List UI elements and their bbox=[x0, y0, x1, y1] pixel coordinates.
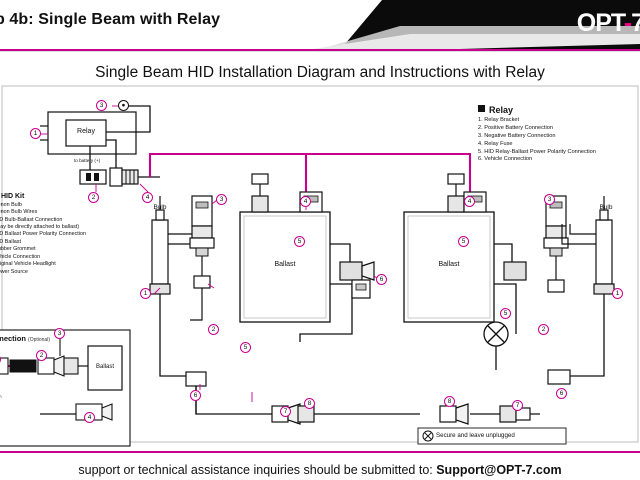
unplugged-marker bbox=[484, 322, 508, 346]
capacitor-legend: llast Power Polarity Connection citor as… bbox=[0, 394, 1, 424]
callout-left-2: 2 bbox=[208, 324, 219, 335]
callout-left-3: 3 bbox=[216, 194, 227, 205]
callout-right-2: 2 bbox=[538, 324, 549, 335]
relay-legend-title: Relay bbox=[478, 104, 596, 117]
capacitor-panel-title: Capacitor Connection (Optional) bbox=[0, 334, 50, 343]
callout-right-1: 1 bbox=[612, 288, 623, 299]
capacitor-ballast-label: Ballast bbox=[88, 364, 122, 370]
footer-contact: support or technical assistance inquirie… bbox=[0, 463, 640, 477]
callout-right-6: 6 bbox=[556, 388, 567, 399]
kit-item-6: Rubber Grommet bbox=[0, 246, 86, 253]
kit-item-3-note: (May be directly attached to ballast) bbox=[0, 224, 86, 231]
square-bullet-icon bbox=[478, 105, 485, 112]
callout-right-7: 7 bbox=[512, 400, 523, 411]
callout-relay-3: 3 bbox=[96, 100, 107, 111]
page-header: ep 4b: Single Beam with Relay OPT-7 bbox=[0, 0, 640, 50]
unplugged-note: Secure and leave unplugged bbox=[436, 432, 515, 439]
relay-connector-cluster bbox=[80, 168, 160, 186]
relay-item-2: 2. Positive Battery Connection bbox=[478, 125, 596, 133]
callout-relay-node: ● bbox=[118, 100, 129, 111]
to-battery-label: to battery (+) bbox=[74, 158, 100, 163]
callout-left-5-top: 5 bbox=[294, 236, 305, 247]
callout-right-5-top: 5 bbox=[458, 236, 469, 247]
callout-right-3: 3 bbox=[544, 194, 555, 205]
left-bulb-label: Bulb bbox=[140, 204, 180, 211]
callout-left-6-harness: 6 bbox=[190, 390, 201, 401]
relay-item-5: 5. HID Relay-Ballast Power Polarity Conn… bbox=[478, 149, 596, 157]
hid-kit-legend: D HID Kit Xenon Bulb Xenon Bulb Wires HI… bbox=[0, 192, 86, 276]
relay-item-3: 3. Negative Battery Connection bbox=[478, 133, 596, 141]
kit-item-2: Xenon Bulb Wires bbox=[0, 209, 86, 216]
callout-cap-3: 3 bbox=[54, 328, 65, 339]
callout-cap-4: 4 bbox=[84, 412, 95, 423]
callout-relay-2: 2 bbox=[88, 192, 99, 203]
brand-logo: OPT-7 bbox=[577, 9, 640, 38]
callout-right-8: 8 bbox=[444, 396, 455, 407]
left-bottom-connectors bbox=[186, 372, 314, 424]
callout-left-1: 1 bbox=[140, 288, 151, 299]
kit-item-3: HID Bulb-Ballast Connection bbox=[0, 217, 86, 224]
right-ballast-label: Ballast bbox=[414, 261, 484, 268]
callout-left-8: 8 bbox=[304, 398, 315, 409]
relay-item-4: 4. Relay Fuse bbox=[478, 141, 596, 149]
kit-item-1: Xenon Bulb bbox=[0, 202, 86, 209]
relay-legend: Relay 1. Relay Bracket 2. Positive Batte… bbox=[478, 104, 596, 164]
kit-item-9: Power Source bbox=[0, 269, 86, 276]
page-title: Single Beam HID Installation Diagram and… bbox=[0, 64, 640, 82]
kit-item-7: Vehicle Connection bbox=[0, 254, 86, 261]
cap-legend-5: be directly attached to ballast) bbox=[0, 418, 1, 424]
callout-relay-1: 1 bbox=[30, 128, 41, 139]
kit-item-5: HID Ballast bbox=[0, 239, 86, 246]
relay-item-1: 1. Relay Bracket bbox=[478, 117, 596, 125]
callout-left-4: 4 bbox=[300, 196, 311, 207]
callout-left-5-bottom: 5 bbox=[240, 342, 251, 353]
callout-cap-2: 2 bbox=[36, 350, 47, 361]
capacitor-optional-label: (Optional) bbox=[28, 337, 50, 343]
callout-right-5-bottom: 5 bbox=[500, 308, 511, 319]
footer-email: Support@OPT-7.com bbox=[436, 463, 561, 477]
callout-left-7: 7 bbox=[280, 406, 291, 417]
step-title: ep 4b: Single Beam with Relay bbox=[0, 11, 220, 29]
right-bulb-label: Bulb bbox=[586, 204, 626, 211]
footer-text: support or technical assistance inquirie… bbox=[78, 463, 436, 477]
callout-relay-4: 4 bbox=[142, 192, 153, 203]
footer-accent-rule bbox=[0, 451, 640, 453]
callout-right-4: 4 bbox=[464, 196, 475, 207]
relay-label: Relay bbox=[66, 128, 106, 135]
left-ballast-label: Ballast bbox=[250, 261, 320, 268]
diagram-canvas: Relay to battery (+) Ballast Ballast Bul… bbox=[0, 84, 640, 450]
relay-item-6: 6. Vehicle Connection bbox=[478, 156, 596, 164]
left-bulb-ballast-connector bbox=[190, 196, 214, 320]
kit-item-4: HID Ballast Power Polarity Connection bbox=[0, 231, 86, 238]
kit-item-8: Original Vehicle Headlight bbox=[0, 261, 86, 268]
left-rubber-grommet bbox=[340, 262, 374, 298]
header-gray-rule bbox=[0, 51, 640, 52]
hid-kit-legend-title: D HID Kit bbox=[0, 192, 86, 202]
callout-left-6-grommet: 6 bbox=[376, 274, 387, 285]
